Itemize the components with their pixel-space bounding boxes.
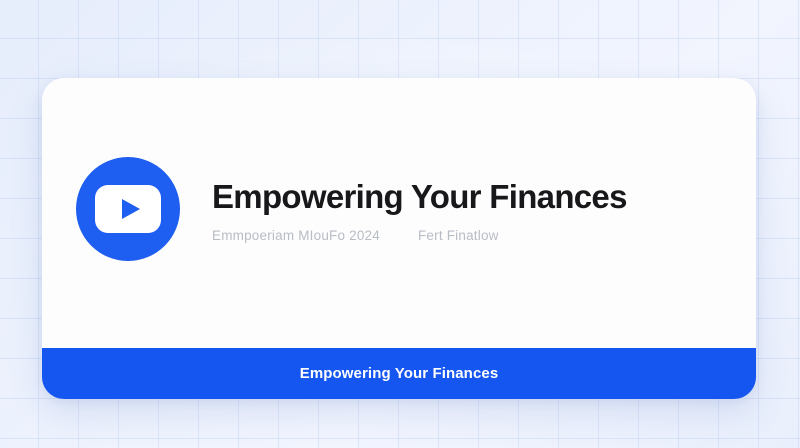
card-body: Empowering Your Finances Emmpoeriam MIou… (42, 78, 756, 348)
card-text-block: Empowering Your Finances Emmpoeriam MIou… (212, 175, 756, 243)
footer-bar: Empowering Your Finances (42, 348, 756, 399)
footer-label: Empowering Your Finances (300, 365, 499, 382)
subtitle-primary: Emmpoeriam MIouFo 2024 (212, 228, 380, 243)
play-button-icon (76, 157, 180, 261)
page-title: Empowering Your Finances (212, 179, 756, 215)
subtitle-secondary: Fert Finatlow (418, 228, 499, 243)
subtitle-row: Emmpoeriam MIouFo 2024 Fert Finatlow (212, 228, 756, 243)
page-background: Empowering Your Finances Emmpoeriam MIou… (0, 0, 800, 448)
content-card: Empowering Your Finances Emmpoeriam MIou… (42, 78, 756, 399)
